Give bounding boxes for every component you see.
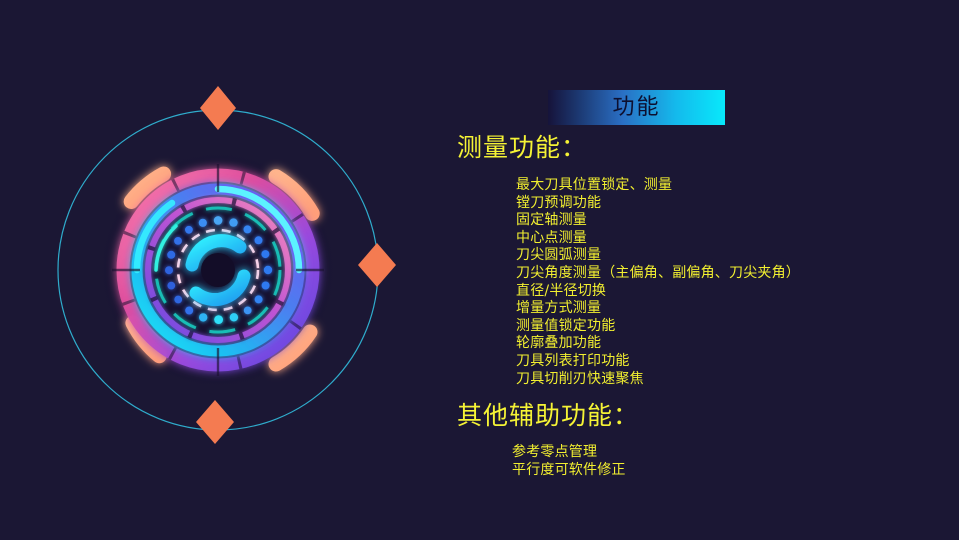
list-item: 中心点测量: [516, 230, 800, 248]
slide-root: 功能 测量功能： 最大刀具位置锁定、测量 镗刀预调功能 固定轴测量 中心点测量 …: [0, 0, 959, 540]
list-item: 刀尖角度测量（主偏角、副偏角、刀尖夹角）: [516, 265, 800, 283]
hud-circle-svg: [0, 60, 430, 490]
list-item: 固定轴测量: [516, 212, 800, 230]
diamond-marker-bottom-icon: [196, 400, 234, 444]
title-banner: 功能: [548, 90, 725, 125]
section-heading-measure: 测量功能：: [457, 134, 587, 162]
list-item: 镗刀预调功能: [516, 195, 800, 213]
list-item: 最大刀具位置锁定、测量: [516, 177, 800, 195]
diamond-marker-right-icon: [358, 243, 396, 287]
list-item: 直径/半径切换: [516, 283, 800, 301]
diamond-marker-top-icon: [200, 86, 236, 130]
measure-function-list: 最大刀具位置锁定、测量 镗刀预调功能 固定轴测量 中心点测量 刀尖圆弧测量 刀尖…: [516, 177, 800, 388]
list-item: 刀具切削刃快速聚焦: [516, 371, 800, 389]
list-item: 刀尖圆弧测量: [516, 247, 800, 265]
hud-tech-circle-graphic: [0, 60, 430, 490]
hud-core: [201, 253, 235, 287]
other-function-list: 参考零点管理 平行度可软件修正: [512, 444, 626, 479]
banner-title-text: 功能: [612, 97, 660, 119]
list-item: 平行度可软件修正: [512, 462, 626, 480]
section-heading-other: 其他辅助功能：: [457, 402, 639, 430]
list-item: 参考零点管理: [512, 444, 626, 462]
list-item: 测量值锁定功能: [516, 318, 800, 336]
list-item: 刀具列表打印功能: [516, 353, 800, 371]
content-panel: 功能 测量功能： 最大刀具位置锁定、测量 镗刀预调功能 固定轴测量 中心点测量 …: [455, 84, 955, 504]
list-item: 轮廓叠加功能: [516, 335, 800, 353]
list-item: 增量方式测量: [516, 300, 800, 318]
